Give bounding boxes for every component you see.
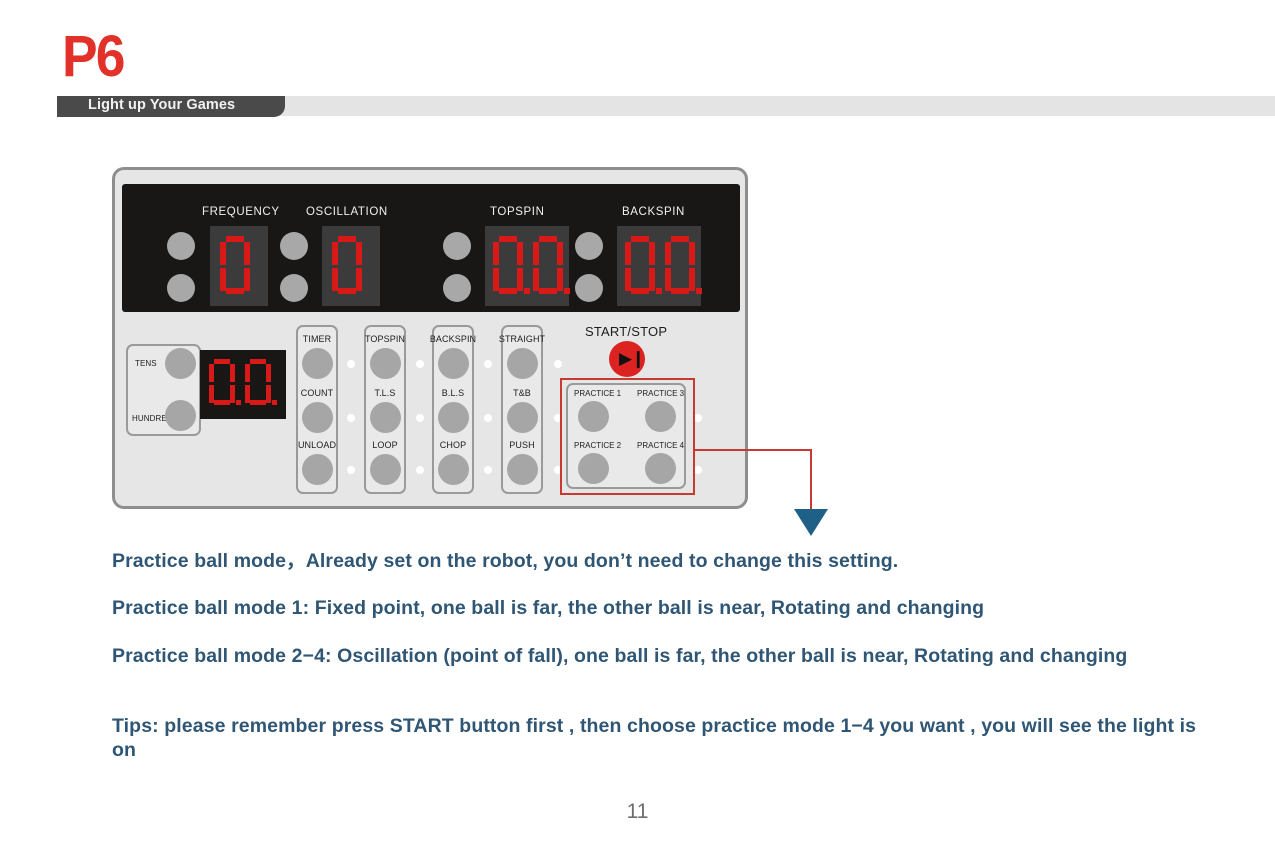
- led-indicator-icon: [416, 360, 424, 368]
- frequency-value: [220, 236, 260, 294]
- ball-count-display: [200, 350, 286, 419]
- hundreds-button[interactable]: [165, 400, 196, 431]
- ball-count-value: [209, 359, 281, 405]
- display-strip: FREQUENCY OSCILLATION TOPSPIN BACKSPIN: [122, 184, 740, 312]
- backspin-down-knob[interactable]: [575, 274, 603, 302]
- start-stop-label: START/STOP: [585, 324, 667, 339]
- led-indicator-icon: [694, 414, 702, 422]
- topspin-display: [485, 226, 569, 306]
- backspin-up-knob[interactable]: [575, 232, 603, 260]
- button-label-push: PUSH: [501, 440, 543, 450]
- topspin-button[interactable]: [370, 348, 401, 379]
- count-button[interactable]: [302, 402, 333, 433]
- callout-line-vertical: [810, 449, 812, 514]
- button-label-timer: TIMER: [296, 334, 338, 344]
- play-pause-icon: ▶❙: [619, 350, 644, 367]
- oscillation-display: [322, 226, 380, 306]
- bls-button[interactable]: [438, 402, 469, 433]
- led-indicator-icon: [347, 360, 355, 368]
- button-label-count: COUNT: [296, 388, 338, 398]
- tens-button[interactable]: [165, 348, 196, 379]
- backspin-value: [625, 236, 705, 294]
- page-number: 11: [0, 800, 1275, 824]
- gauge-label-backspin: BACKSPIN: [622, 206, 685, 218]
- button-label-bls: B.L.S: [432, 388, 474, 398]
- body-paragraph-1: Practice ball mode，Already set on the ro…: [112, 549, 1222, 573]
- timer-button[interactable]: [302, 348, 333, 379]
- body-paragraph-3: Practice ball mode 2−4: Oscillation (poi…: [112, 644, 1222, 668]
- topspin-up-knob[interactable]: [443, 232, 471, 260]
- led-indicator-icon: [347, 414, 355, 422]
- led-indicator-icon: [484, 466, 492, 474]
- frequency-up-knob[interactable]: [167, 232, 195, 260]
- gauge-label-oscillation: OSCILLATION: [306, 206, 388, 218]
- tls-button[interactable]: [370, 402, 401, 433]
- button-label-backspin: BACKSPIN: [429, 334, 477, 344]
- frequency-display: [210, 226, 268, 306]
- backspin-display: [617, 226, 701, 306]
- tens-label: TENS: [135, 359, 157, 368]
- tandb-button[interactable]: [507, 402, 538, 433]
- oscillation-value: [332, 236, 372, 294]
- practice-group-highlight: [560, 378, 695, 495]
- button-label-tandb: T&B: [501, 388, 543, 398]
- topspin-value: [493, 236, 573, 294]
- oscillation-down-knob[interactable]: [280, 274, 308, 302]
- led-indicator-icon: [484, 414, 492, 422]
- button-label-tls: T.L.S: [364, 388, 406, 398]
- callout-arrow-icon: [794, 509, 828, 536]
- led-indicator-icon: [484, 360, 492, 368]
- straight-button[interactable]: [507, 348, 538, 379]
- gauge-label-frequency: FREQUENCY: [202, 206, 280, 218]
- unload-button[interactable]: [302, 454, 333, 485]
- button-label-loop: LOOP: [364, 440, 406, 450]
- loop-button[interactable]: [370, 454, 401, 485]
- oscillation-up-knob[interactable]: [280, 232, 308, 260]
- led-indicator-icon: [347, 466, 355, 474]
- led-indicator-icon: [694, 466, 702, 474]
- led-indicator-icon: [554, 360, 562, 368]
- button-label-chop: CHOP: [432, 440, 474, 450]
- button-label-unload: UNLOAD: [296, 440, 338, 450]
- led-indicator-icon: [416, 466, 424, 474]
- callout-line-horizontal: [694, 449, 812, 451]
- chop-button[interactable]: [438, 454, 469, 485]
- button-label-straight: STRAIGHT: [498, 334, 546, 344]
- topspin-down-knob[interactable]: [443, 274, 471, 302]
- frequency-down-knob[interactable]: [167, 274, 195, 302]
- header-tagline-label: Light up Your Games: [88, 97, 235, 113]
- body-paragraph-4: Tips: please remember press START button…: [112, 714, 1222, 762]
- button-label-topspin: TOPSPIN: [362, 334, 408, 344]
- brand-logo: P6: [62, 28, 124, 86]
- gauge-label-topspin: TOPSPIN: [490, 206, 544, 218]
- push-button[interactable]: [507, 454, 538, 485]
- body-paragraph-2: Practice ball mode 1: Fixed point, one b…: [112, 596, 1222, 620]
- backspin-button[interactable]: [438, 348, 469, 379]
- led-indicator-icon: [416, 414, 424, 422]
